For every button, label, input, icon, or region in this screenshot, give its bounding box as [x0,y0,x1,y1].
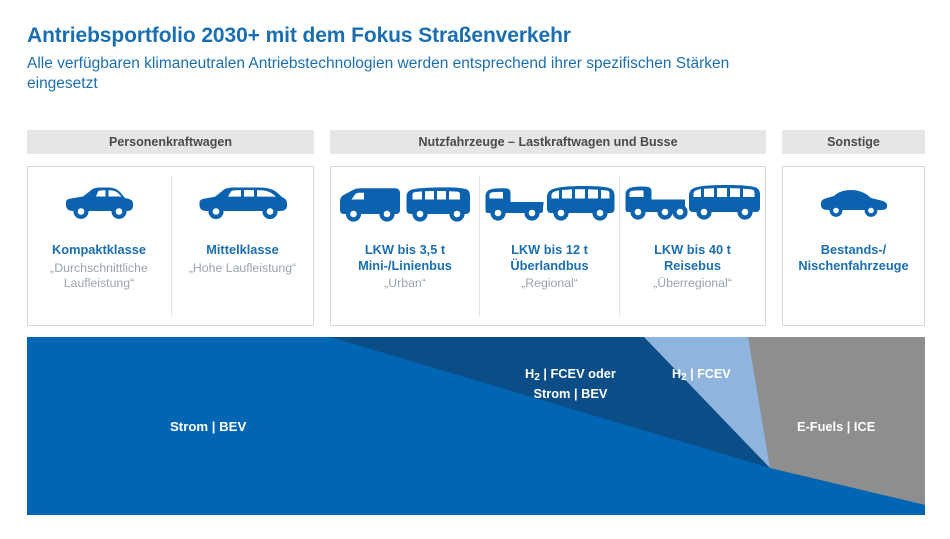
card-subtitle: „Hohe Laufleistung“ [189,261,296,277]
card-subtitle: „Überregional“ [653,276,732,292]
card-title: Mittelklasse [206,242,279,258]
compact-car-icon [28,166,170,242]
card-title: LKW bis 3,5 t Mini-/Linienbus [358,242,452,273]
card-subtitle: „Urban“ [384,276,426,292]
semi-truck-and-coach-icon [620,166,765,242]
legacy-car-icon [783,166,924,242]
category-label: Sonstige [827,135,880,149]
vehicle-card-lkw-3-5t[interactable]: LKW bis 3,5 t Mini-/Linienbus „Urban“ [331,166,479,326]
card-subtitle: „Durchschnittliche Laufleistung“ [28,261,170,292]
category-label: Nutzfahrzeuge – Lastkraftwagen und Busse [418,135,677,149]
van-and-minibus-icon [331,166,479,242]
category-header-sonstige: Sonstige [782,130,925,154]
category-label: Personenkraftwagen [109,135,232,149]
vehicle-card-kompaktklasse[interactable]: Kompaktklasse „Durchschnittliche Lauflei… [28,166,170,326]
vehicle-card-mittelklasse[interactable]: Mittelklasse „Hohe Laufleistung“ [172,166,313,326]
vehicle-card-lkw-40t[interactable]: LKW bis 40 t Reisebus „Überregional“ [620,166,765,326]
card-title: Bestands-/ Nischenfahrzeuge [798,242,908,273]
category-header-personenkraftwagen: Personenkraftwagen [27,130,314,154]
truck-and-coach-icon [480,166,619,242]
category-header-nutzfahrzeuge: Nutzfahrzeuge – Lastkraftwagen und Busse [330,130,766,154]
page-subtitle: Alle verfügbaren klimaneutralen Antriebs… [27,54,787,94]
vehicle-card-bestandsfahrzeuge[interactable]: Bestands-/ Nischenfahrzeuge [783,166,924,326]
card-title: LKW bis 12 t Überlandbus [510,242,588,273]
infographic-root: Antriebsportfolio 2030+ mit dem Fokus St… [0,0,950,539]
card-subtitle: „Regional“ [521,276,578,292]
midsize-car-icon [172,166,313,242]
card-title: LKW bis 40 t Reisebus [654,242,731,273]
powertrain-wedge-diagram [27,337,925,515]
card-title: Kompaktklasse [52,242,146,258]
vehicle-card-lkw-12t[interactable]: LKW bis 12 t Überlandbus „Regional“ [480,166,619,326]
page-title: Antriebsportfolio 2030+ mit dem Fokus St… [27,24,571,48]
